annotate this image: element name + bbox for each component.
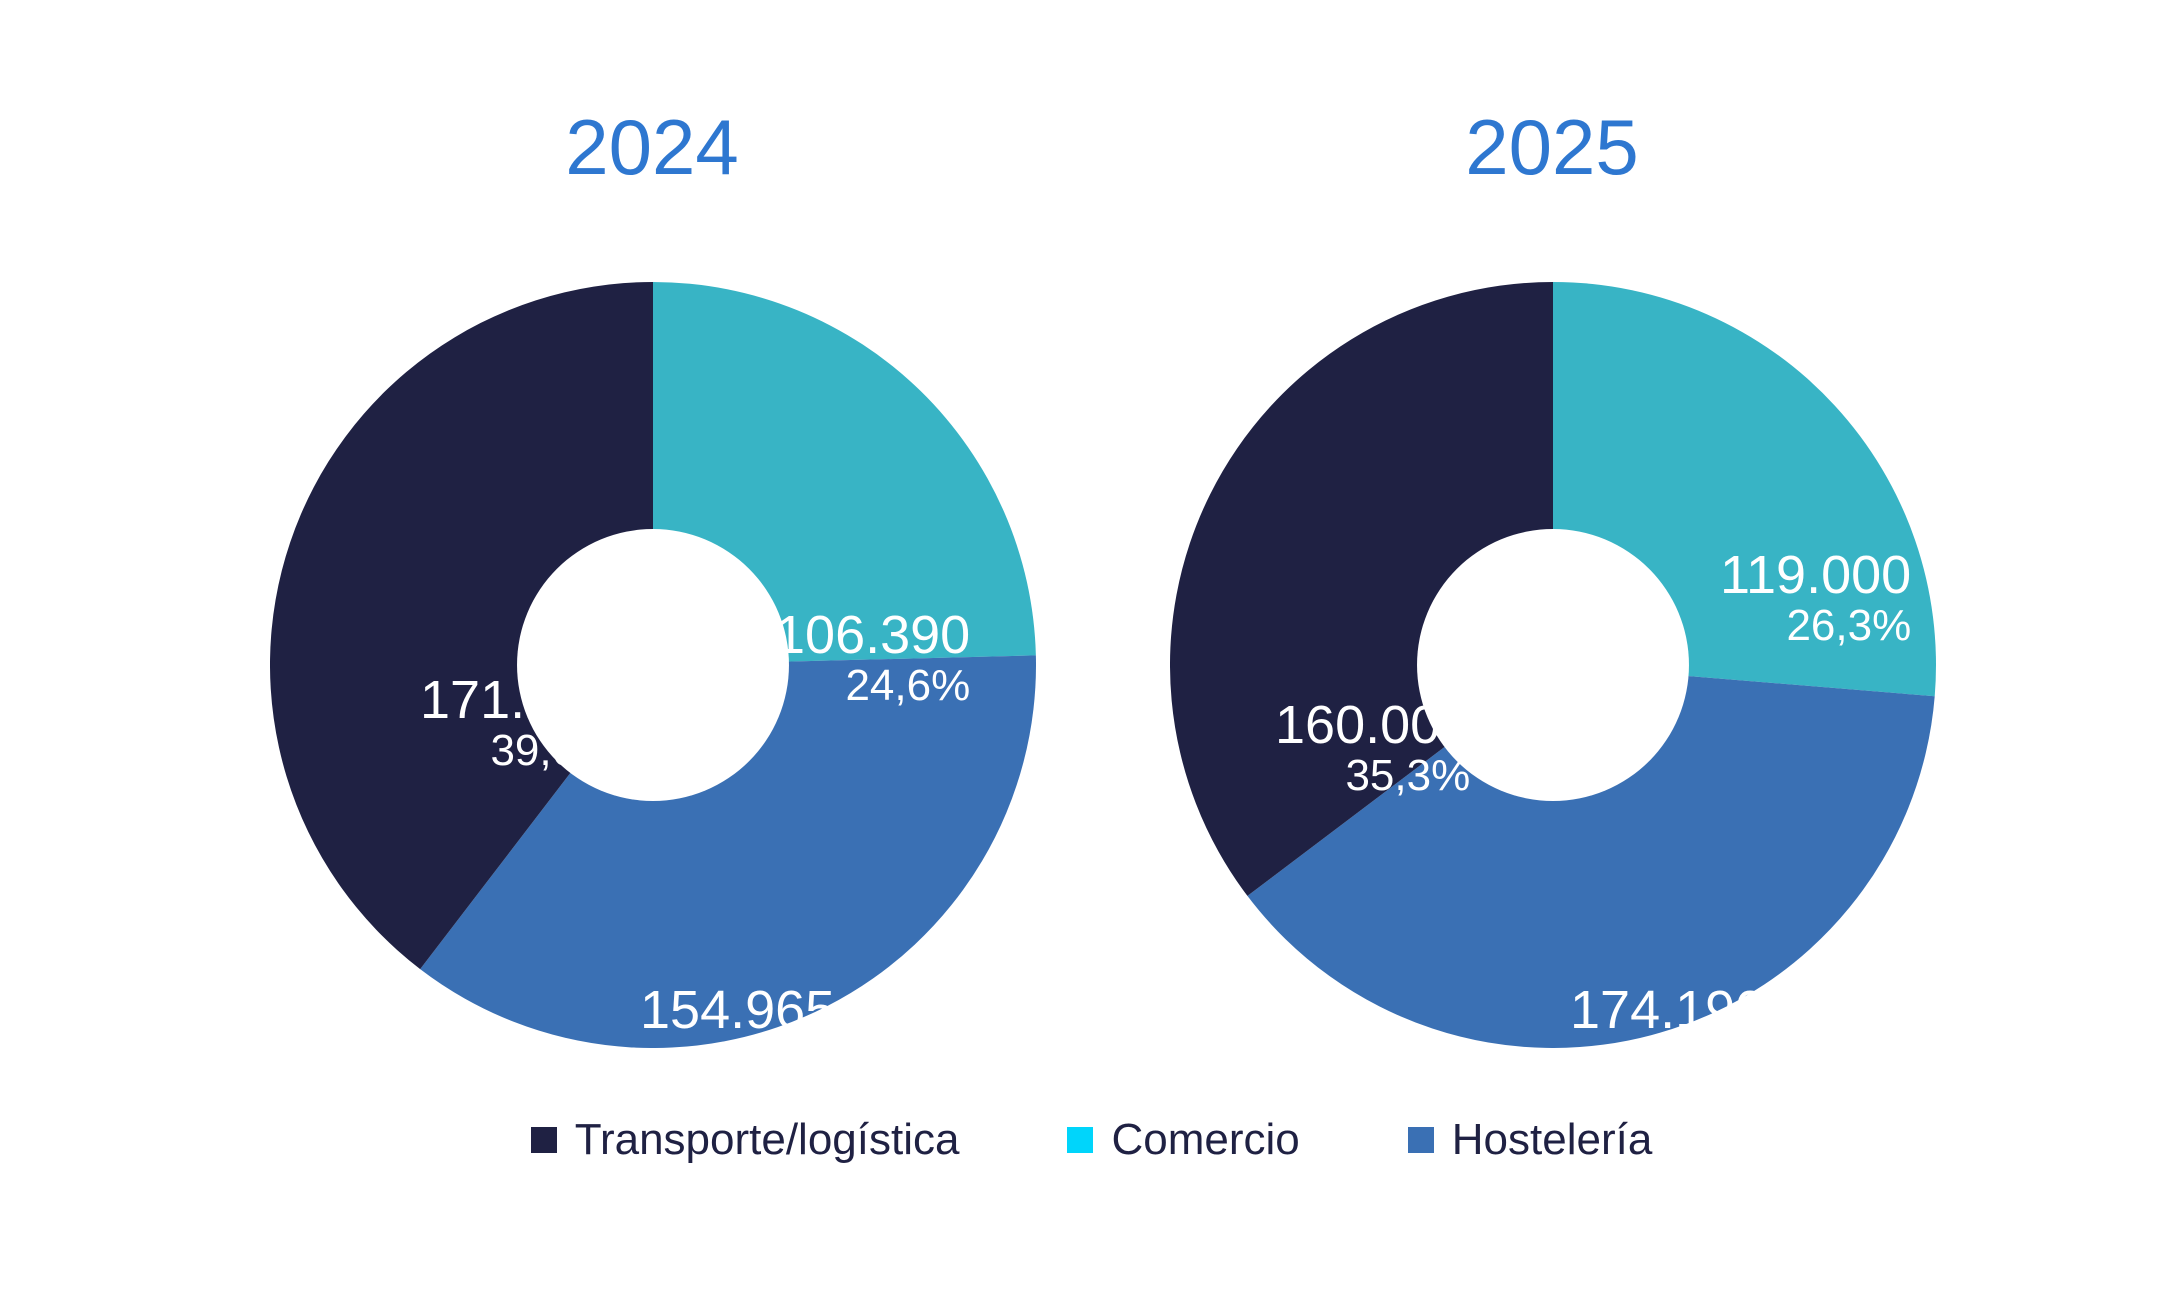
chart-legend: Transporte/logística Comercio Hostelería [0, 1118, 2183, 1162]
chart-title-2024: 2024 [132, 108, 1172, 186]
legend-label-transporte: Transporte/logística [575, 1118, 960, 1162]
donut-2025-svg [1170, 282, 1936, 1048]
square-marker-icon [1408, 1127, 1434, 1153]
legend-label-hosteleria: Hostelería [1452, 1118, 1653, 1162]
dual-donut-chart-figure: 2024 106.390 24,6% 171.200 39,6% [0, 0, 2183, 1300]
donut-2025-hole [1417, 529, 1689, 801]
chart-title-2025: 2025 [1032, 108, 2072, 186]
donut-chart-panel-2024: 2024 106.390 24,6% 171.200 39,6% [132, 0, 1172, 1090]
legend-item-hosteleria[interactable]: Hostelería [1408, 1118, 1653, 1162]
donut-chart-panel-2025: 2025 119.000 26,3% 160.000 35,3% 174.19 [1032, 0, 2072, 1090]
donut-2024: 106.390 24,6% 171.200 39,6% 154.965 35,8… [270, 282, 1036, 1048]
square-marker-icon [1067, 1127, 1093, 1153]
legend-label-comercio: Comercio [1111, 1118, 1299, 1162]
legend-item-transporte[interactable]: Transporte/logística [531, 1118, 960, 1162]
donut-2024-hole [517, 529, 789, 801]
square-marker-icon [531, 1127, 557, 1153]
donut-2024-svg [270, 282, 1036, 1048]
legend-item-comercio[interactable]: Comercio [1067, 1118, 1299, 1162]
donut-2025: 119.000 26,3% 160.000 35,3% 174.190 38,4… [1170, 282, 1936, 1048]
